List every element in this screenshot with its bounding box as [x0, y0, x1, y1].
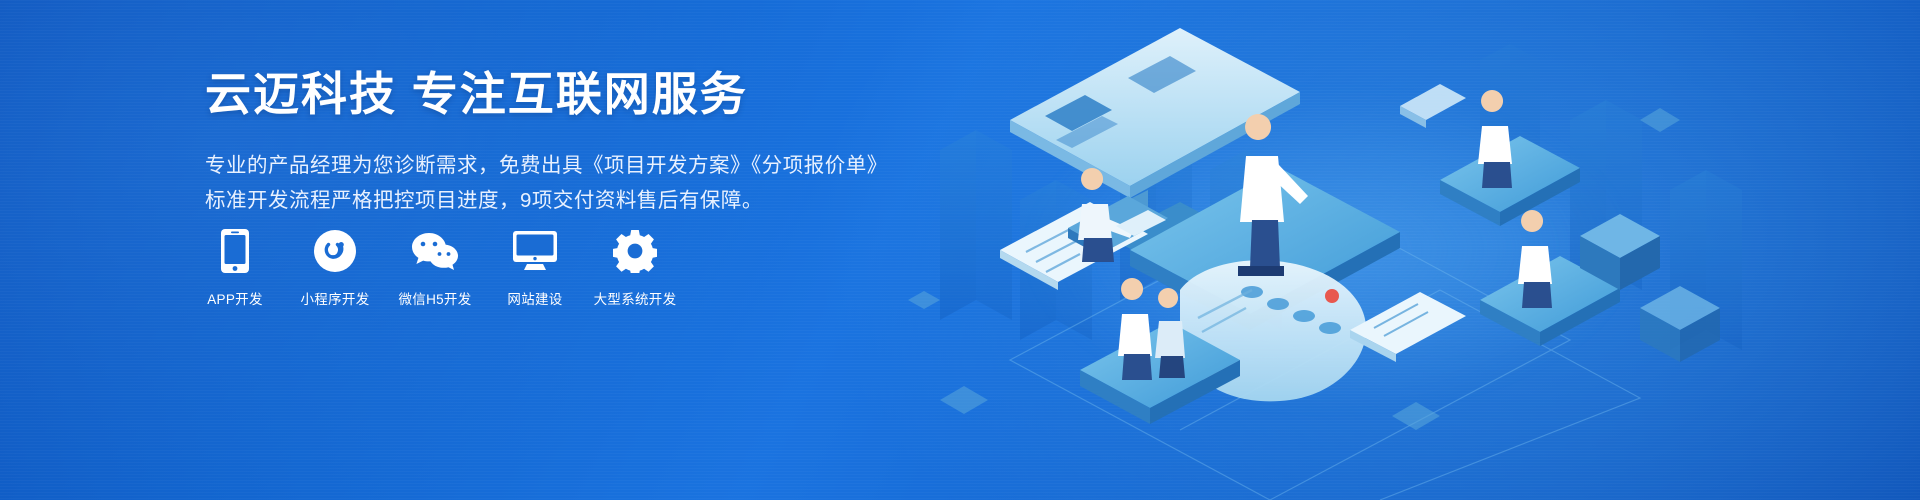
text-block: 云迈科技 专注互联网服务 专业的产品经理为您诊断需求，免费出具《项目开发方案》《… [205, 66, 905, 219]
service-label: 小程序开发 [301, 288, 370, 308]
service-item-wechat-h5[interactable]: 微信H5开发 [405, 228, 465, 308]
service-item-large-system[interactable]: 大型系统开发 [605, 228, 665, 308]
subtitle: 专业的产品经理为您诊断需求，免费出具《项目开发方案》《分项报价单》 标准开发流程… [205, 148, 905, 220]
page-title: 云迈科技 专注互联网服务 [205, 66, 905, 124]
wechat-icon [411, 228, 459, 274]
service-label: 大型系统开发 [594, 288, 677, 308]
monitor-icon [513, 228, 557, 274]
gear-icon [613, 228, 657, 274]
service-item-app[interactable]: APP开发 [205, 228, 265, 308]
subtitle-line-2: 标准开发流程严格把控项目进度，9项交付资料售后有保障。 [205, 183, 905, 219]
service-label: APP开发 [207, 288, 263, 308]
service-label: 微信H5开发 [398, 288, 471, 308]
service-item-website[interactable]: 网站建设 [505, 228, 565, 308]
phone-icon [221, 228, 249, 274]
illustration [880, 0, 1920, 500]
service-list: APP开发 小程序开发 [205, 228, 665, 308]
hero-banner: 云迈科技 专注互联网服务 专业的产品经理为您诊断需求，免费出具《项目开发方案》《… [0, 0, 1920, 500]
service-label: 网站建设 [507, 288, 562, 308]
mini-program-icon [314, 228, 356, 274]
service-item-miniprogram[interactable]: 小程序开发 [305, 228, 365, 308]
subtitle-line-1: 专业的产品经理为您诊断需求，免费出具《项目开发方案》《分项报价单》 [205, 148, 905, 184]
